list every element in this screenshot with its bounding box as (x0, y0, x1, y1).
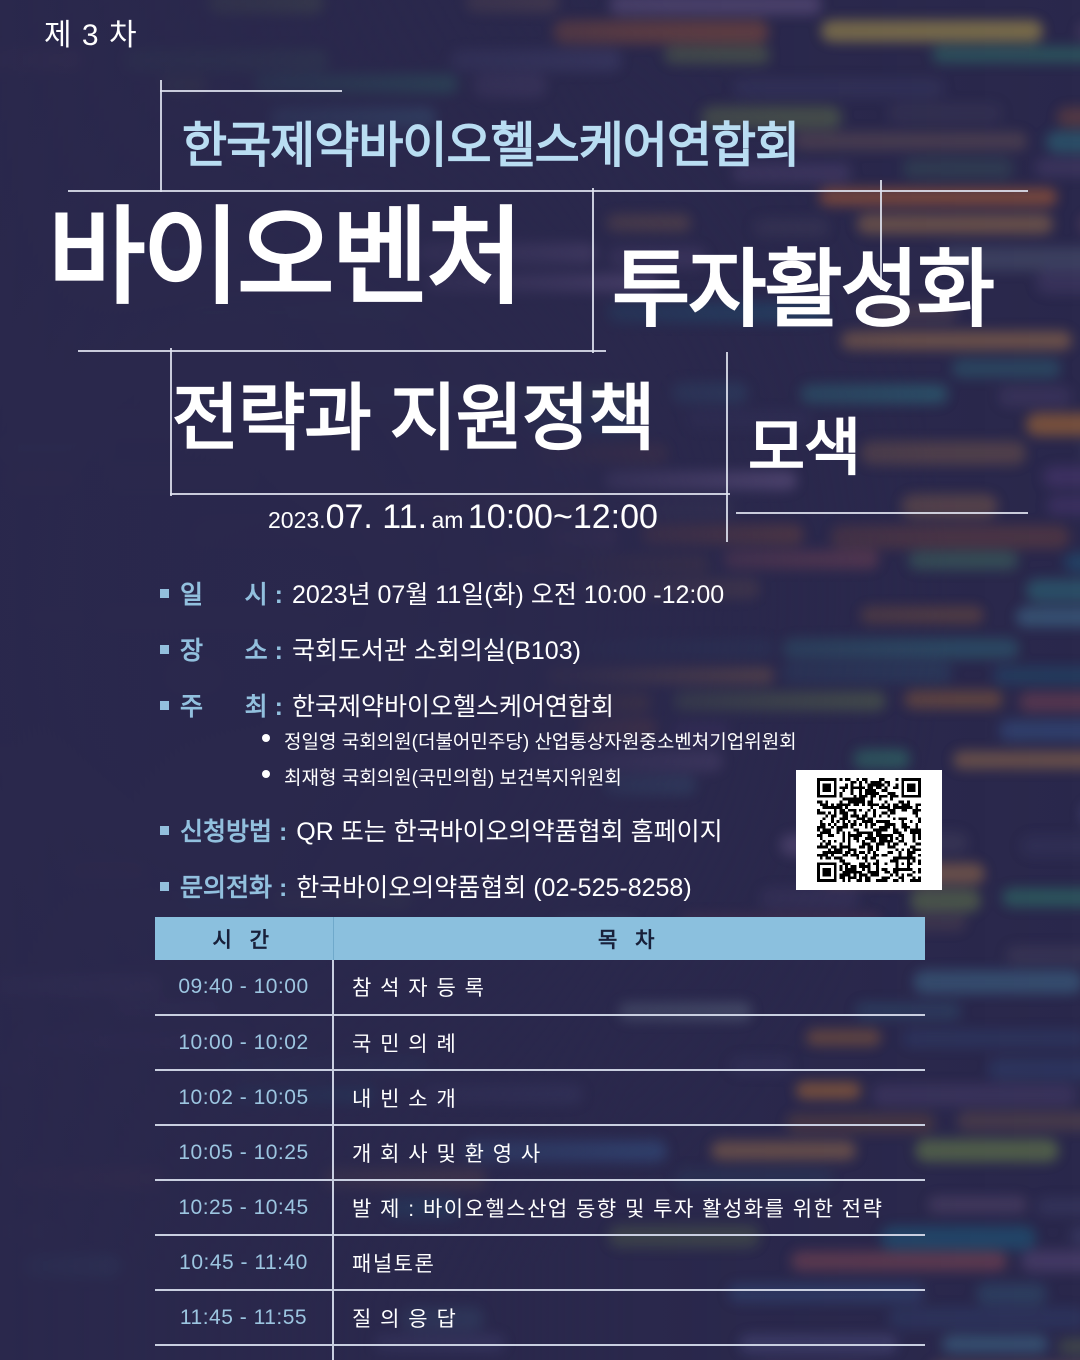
info-row-host: 주 최 : 한국제약바이오헬스케어연합회 (160, 687, 950, 723)
table-row: 10:00 - 10:02국 민 의 례 (155, 1015, 925, 1070)
table-row: 10:05 - 10:25개 회 사 및 환 영 사 (155, 1125, 925, 1180)
datetime-ampm: am (431, 507, 463, 533)
bullet-square-icon (160, 589, 169, 598)
bullet-square-icon (160, 882, 169, 891)
event-datetime-banner: 2023.07. 11. am 10:00~12:00 (268, 498, 658, 537)
agenda-table-header: 시 간 목 차 (155, 917, 925, 960)
info-label-contact: 문의전화 : (180, 868, 287, 904)
agenda-program-cell: 질 의 응 답 (333, 1290, 925, 1345)
agenda-time-cell: 10:25 - 10:45 (155, 1180, 333, 1235)
agenda-time-cell: 11:55 - 12:00 (155, 1345, 333, 1360)
host-name-2: 최재형 국회의원(국민의힘) 보건복지위원회 (284, 768, 622, 789)
info-value-date: 2023년 07월 11일(화) 오전 10:00 -12:00 (292, 575, 724, 611)
info-value-apply: QR 또는 한국바이오의약품협회 홈페이지 (296, 812, 722, 848)
main-title-line2-b: 모색 (748, 418, 860, 480)
table-header-row: 시 간 목 차 (155, 917, 925, 960)
qr-code-image (817, 778, 921, 882)
agenda-time-cell: 09:40 - 10:00 (155, 960, 333, 1015)
datetime-time: 10:00~12:00 (468, 498, 658, 536)
info-label-venue: 장 소 : (180, 631, 283, 667)
agenda-time-cell: 10:00 - 10:02 (155, 1015, 333, 1070)
agenda-program-cell: 패널토론 (333, 1235, 925, 1290)
agenda-time-cell: 11:45 - 11:55 (155, 1290, 333, 1345)
table-row: 10:45 - 11:40패널토론 (155, 1235, 925, 1290)
table-row: 10:25 - 10:45발 제 : 바이오헬스산업 동향 및 투자 활성화를 … (155, 1180, 925, 1235)
list-item: 정일영 국회의원(더불어민주당) 산업통상자원중소벤처기업위원회 (284, 727, 950, 754)
column-header-time: 시 간 (155, 917, 333, 960)
agenda-program-cell: 발 제 : 바이오헬스산업 동향 및 투자 활성화를 위한 전략 (333, 1180, 925, 1235)
info-row-date: 일 시 : 2023년 07월 11일(화) 오전 10:00 -12:00 (160, 575, 950, 611)
info-value-host: 한국제약바이오헬스케어연합회 (292, 687, 614, 723)
bullet-square-icon (160, 701, 169, 710)
agenda-time-cell: 10:45 - 11:40 (155, 1235, 333, 1290)
bullet-dot-icon (262, 734, 270, 742)
agenda-program-cell: 국 민 의 례 (333, 1015, 925, 1070)
edition-label: 제 3 차 (44, 10, 138, 54)
host-name-1: 정일영 국회의원(더불어민주당) 산업통상자원중소벤처기업위원회 (284, 732, 797, 753)
table-row: 10:02 - 10:05내 빈 소 개 (155, 1070, 925, 1125)
datetime-date: 07. 11. (326, 498, 427, 536)
poster-root: 제 3 차 한국제약바이오헬스케어연합회 바이오벤처 투자활성화 전략과 지원정… (0, 0, 1080, 1360)
info-label-host: 주 최 : (180, 687, 283, 723)
agenda-time-cell: 10:05 - 10:25 (155, 1125, 333, 1180)
main-title-line2-a: 전략과 지원정책 (172, 382, 654, 455)
agenda-time-cell: 10:02 - 10:05 (155, 1070, 333, 1125)
table-row: 11:55 - 12:00폐 회 사 (155, 1345, 925, 1360)
agenda-table: 시 간 목 차 09:40 - 10:00참 석 자 등 록10:00 - 10… (155, 917, 925, 1360)
info-label-apply: 신청방법 : (180, 812, 287, 848)
agenda-program-cell: 개 회 사 및 환 영 사 (333, 1125, 925, 1180)
table-row: 09:40 - 10:00참 석 자 등 록 (155, 960, 925, 1015)
organization-title: 한국제약바이오헬스케어연합회 (182, 106, 799, 177)
info-label-date: 일 시 : (180, 575, 283, 611)
agenda-program-cell: 내 빈 소 개 (333, 1070, 925, 1125)
bullet-square-icon (160, 826, 169, 835)
main-title-line1-b: 투자활성화 (612, 248, 993, 333)
info-value-contact: 한국바이오의약품협회 (02-525-8258) (296, 868, 691, 904)
bullet-dot-icon (262, 770, 270, 778)
agenda-table-body: 09:40 - 10:00참 석 자 등 록10:00 - 10:02국 민 의… (155, 960, 925, 1360)
qr-code[interactable] (796, 770, 942, 890)
info-value-venue: 국회도서관 소회의실(B103) (292, 631, 581, 667)
agenda-program-cell: 폐 회 사 (333, 1345, 925, 1360)
datetime-year: 2023. (268, 507, 326, 533)
bullet-square-icon (160, 645, 169, 654)
agenda-program-cell: 참 석 자 등 록 (333, 960, 925, 1015)
column-header-program: 목 차 (333, 917, 925, 960)
info-row-venue: 장 소 : 국회도서관 소회의실(B103) (160, 631, 950, 667)
main-title-line1-a: 바이오벤처 (48, 205, 521, 311)
table-row: 11:45 - 11:55질 의 응 답 (155, 1290, 925, 1345)
